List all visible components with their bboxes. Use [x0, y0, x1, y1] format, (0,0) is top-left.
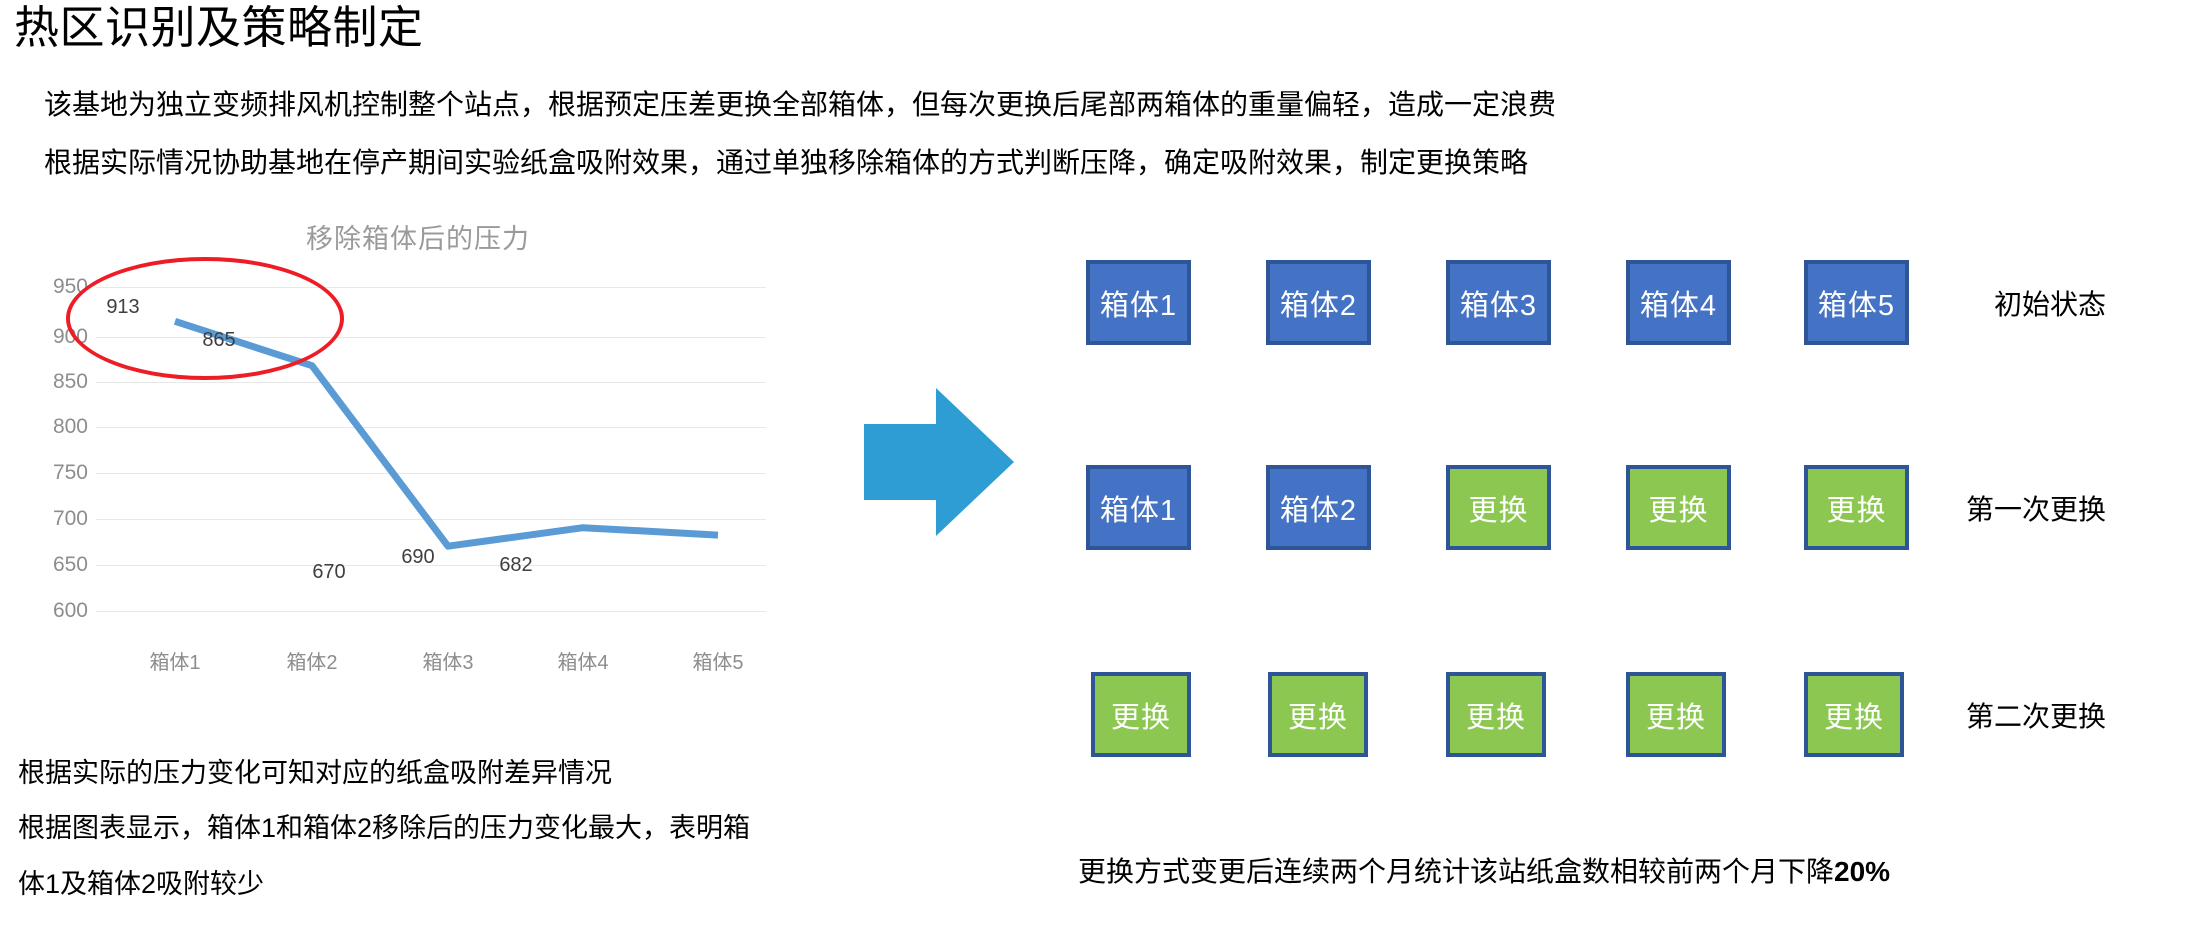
highlight-ellipse-annotation: [66, 257, 344, 380]
data-label: 670: [312, 561, 345, 584]
matrix-cell-label: 箱体3: [1460, 282, 1537, 324]
matrix-cell[interactable]: 箱体2: [1266, 465, 1371, 550]
note-line-2: 根据图表显示，箱体1和箱体2移除后的压力变化最大，表明箱: [18, 812, 750, 844]
matrix-cell[interactable]: 更换: [1804, 672, 1904, 757]
summary-emphasis: 20%: [1834, 856, 1890, 887]
matrix-cell-label: 箱体2: [1280, 487, 1357, 529]
matrix-row-label: 第二次更换: [1966, 695, 2106, 735]
matrix-cell-label: 更换: [1111, 694, 1171, 736]
x-axis-tick: 箱体4: [557, 646, 608, 675]
intro-line-1: 该基地为独立变频排风机控制整个站点，根据预定压差更换全部箱体，但每次更换后尾部两…: [44, 88, 1556, 122]
matrix-cell-label: 箱体2: [1280, 282, 1357, 324]
pressure-line-chart: 移除箱体后的压力 950 900 850 800 750 700 650 600: [18, 205, 818, 675]
matrix-cell[interactable]: 更换: [1268, 672, 1368, 757]
matrix-cell-label: 箱体1: [1100, 282, 1177, 324]
summary-prefix: 更换方式变更后连续两个月统计该站纸盒数相较前两个月下降: [1078, 856, 1834, 887]
matrix-row-label: 初始状态: [1994, 283, 2106, 323]
matrix-cell-label: 更换: [1646, 694, 1706, 736]
matrix-cell[interactable]: 箱体1: [1086, 465, 1191, 550]
matrix-cell[interactable]: 更换: [1446, 465, 1551, 550]
x-axis-tick: 箱体3: [422, 646, 473, 675]
matrix-cell[interactable]: 箱体4: [1626, 260, 1731, 345]
note-line-3: 体1及箱体2吸附较少: [18, 868, 264, 900]
matrix-cell[interactable]: 更换: [1446, 672, 1546, 757]
matrix-cell-label: 更换: [1466, 694, 1526, 736]
replacement-strategy-matrix: 箱体1 箱体2 箱体3 箱体4 箱体5 初始状态 箱体1 箱体2 更换 更换 更…: [1086, 260, 2176, 800]
matrix-cell-label: 更换: [1826, 487, 1886, 529]
matrix-cell-label: 更换: [1468, 487, 1528, 529]
summary-statement: 更换方式变更后连续两个月统计该站纸盒数相较前两个月下降20%: [1078, 850, 1890, 890]
matrix-cell[interactable]: 箱体2: [1266, 260, 1371, 345]
chart-plot-area: 950 900 850 800 750 700 650 600 913 865 …: [18, 205, 818, 675]
x-axis-tick: 箱体2: [286, 646, 337, 675]
matrix-cell-label: 更换: [1824, 694, 1884, 736]
x-axis-tick: 箱体1: [149, 646, 200, 675]
matrix-cell[interactable]: 更换: [1804, 465, 1909, 550]
matrix-cell[interactable]: 箱体1: [1086, 260, 1191, 345]
matrix-cell[interactable]: 箱体3: [1446, 260, 1551, 345]
matrix-cell-label: 更换: [1648, 487, 1708, 529]
data-label: 682: [499, 554, 532, 577]
slide-canvas: 热区识别及策略制定 该基地为独立变频排风机控制整个站点，根据预定压差更换全部箱体…: [0, 0, 2193, 928]
matrix-row-label: 第一次更换: [1966, 488, 2106, 528]
data-label: 690: [401, 546, 434, 569]
matrix-cell-label: 箱体4: [1640, 282, 1717, 324]
matrix-cell[interactable]: 箱体5: [1804, 260, 1909, 345]
matrix-cell-label: 更换: [1288, 694, 1348, 736]
intro-line-2: 根据实际情况协助基地在停产期间实验纸盒吸附效果，通过单独移除箱体的方式判断压降，…: [44, 146, 1528, 180]
matrix-cell-label: 箱体1: [1100, 487, 1177, 529]
matrix-cell[interactable]: 更换: [1091, 672, 1191, 757]
x-axis-tick: 箱体5: [692, 646, 743, 675]
note-line-1: 根据实际的压力变化可知对应的纸盒吸附差异情况: [18, 757, 612, 789]
matrix-cell-label: 箱体5: [1818, 282, 1895, 324]
matrix-cell[interactable]: 更换: [1626, 465, 1731, 550]
matrix-cell[interactable]: 更换: [1626, 672, 1726, 757]
page-title: 热区识别及策略制定: [14, 2, 424, 54]
right-arrow-icon: [864, 388, 1014, 536]
